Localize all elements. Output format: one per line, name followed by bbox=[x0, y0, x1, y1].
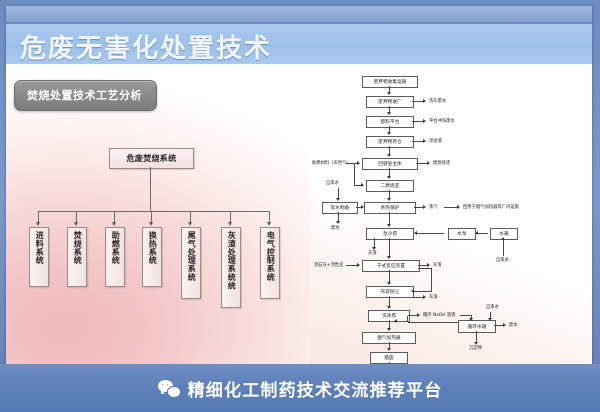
flow-arrow-6 bbox=[387, 198, 391, 201]
tree-leaf-label: 进料系统 bbox=[35, 231, 43, 265]
flow-label-wastewater-2: 废水 bbox=[509, 322, 518, 328]
flow-fuel-line bbox=[346, 163, 354, 164]
flow-scrubber-down bbox=[407, 316, 408, 322]
flow-node-unload-platform: 卸料平台 bbox=[366, 116, 414, 128]
flow-label-tap-water-1: 自来水 bbox=[326, 180, 339, 186]
flow-arrow-12 bbox=[387, 348, 391, 351]
flow-out-arrow-4 bbox=[427, 161, 430, 165]
flow-arrow-1 bbox=[387, 92, 391, 95]
flow-pump-arrow bbox=[414, 231, 417, 235]
flow-fuel-arrow-a bbox=[357, 161, 360, 165]
flow-node-arrival: 废弃物进厂 bbox=[366, 96, 414, 108]
flow-recycle-arrow bbox=[411, 289, 414, 293]
wechat-icon bbox=[158, 380, 180, 397]
flow-node-dry-reactor: 干式反应装置 bbox=[362, 260, 420, 272]
flow-tank-arrow bbox=[475, 231, 478, 235]
flow-node-baghouse: 布袋除尘 bbox=[366, 286, 414, 298]
flow-softwater-arrow-out bbox=[336, 221, 340, 224]
flow-label-ash-2: 灰渣 bbox=[433, 262, 442, 268]
flow-reagent-arrow bbox=[357, 263, 360, 267]
flow-node-waste-heat-boiler: 余热锅炉 bbox=[364, 202, 416, 214]
flow-node-storage: 废弃物存仓 bbox=[366, 136, 414, 148]
flow-steam-arrow-2 bbox=[457, 205, 460, 209]
tree-leaf-jinliao: 进料系统 bbox=[29, 227, 49, 287]
flow-label-ash-3: 灰渣 bbox=[429, 294, 438, 300]
footer-brand-bar: 精细化工制药技术交流推荐平台 bbox=[0, 364, 600, 412]
flow-label-platform-wash-water: 平台冲洗废水 bbox=[429, 118, 455, 124]
flow-tank-waste-arrow bbox=[503, 323, 506, 327]
flow-link-8 bbox=[389, 238, 390, 257]
tree-arrow-1 bbox=[36, 222, 40, 226]
flow-label-steam: 蒸汽 bbox=[429, 204, 438, 210]
flow-naoh-arrow bbox=[417, 313, 420, 317]
flow-arrow-3 bbox=[387, 132, 391, 135]
flow-node-secondary-chamber: 二燃烧室 bbox=[366, 180, 414, 192]
flow-scrubber-arrow bbox=[394, 319, 397, 323]
flow-naoh-return-arrow bbox=[469, 318, 473, 321]
footer-brand-text: 精细化工制药技术交流推荐平台 bbox=[188, 376, 443, 401]
flow-label-lime-carbon: 消石灰+活性炭 bbox=[314, 262, 343, 268]
tree-arrow-4 bbox=[149, 222, 153, 226]
tree-leaf-label: 换热系统 bbox=[148, 231, 156, 265]
tree-leaf-fenshao: 焚烧系统 bbox=[67, 227, 87, 287]
flow-steam-arrow bbox=[423, 205, 426, 209]
flow-arrow-9 bbox=[387, 282, 391, 285]
flow-arrow-2 bbox=[387, 112, 391, 115]
flow-arrow-8 bbox=[387, 256, 391, 259]
flow-label-tap-water-3: 自来水 bbox=[486, 304, 499, 310]
tree-leaf-label: 灰渣处理系统统 bbox=[227, 231, 235, 290]
flow-label-combustion-residue: 燃烧残渣 bbox=[433, 160, 450, 166]
flow-out-arrow-1 bbox=[423, 99, 426, 103]
flow-dry-ash-arrow bbox=[427, 263, 430, 267]
flow-fuel-drop bbox=[354, 163, 355, 185]
tree-leaf-dianqi: 电气控制系统 bbox=[260, 227, 280, 299]
flow-arrow-7 bbox=[387, 224, 391, 227]
tree-leaf-label: 助燃系统 bbox=[111, 231, 119, 265]
flow-tapwater-3-arrow bbox=[488, 318, 492, 321]
flow-arrow-11 bbox=[387, 328, 391, 331]
flow-recycle-bottom bbox=[412, 291, 432, 292]
flow-recycle-top bbox=[418, 268, 432, 269]
flow-label-wastewater-1: 废水 bbox=[331, 225, 340, 231]
flow-label-reuse: 回用于烟气加热器等厂内设施 bbox=[463, 204, 519, 210]
flow-label-car-wash-water: 洗车废水 bbox=[429, 98, 446, 104]
flow-softwater-arrow-boiler bbox=[361, 205, 364, 209]
flow-bag-ash-arrow bbox=[423, 295, 426, 299]
slide-page: 危废无害化处置技术 焚烧处置技术工艺分析 危废焚烧系统 bbox=[6, 6, 592, 364]
tree-arrow-5 bbox=[188, 222, 192, 226]
flow-tank-feed bbox=[503, 238, 504, 256]
slide-root: 危废无害化处置技术 焚烧处置技术工艺分析 危废焚烧系统 bbox=[0, 0, 600, 412]
tree-leaf-label: 焚烧系统 bbox=[73, 231, 81, 265]
tree-root-stem bbox=[150, 167, 151, 211]
tree-leaf-label: 电气控制系统 bbox=[266, 231, 274, 281]
tree-leaf-label: 尾气处理系统 bbox=[187, 231, 195, 281]
tree-leaf-weiqi: 尾气处理系统 bbox=[181, 227, 201, 299]
tree-arrow-2 bbox=[74, 222, 78, 226]
tree-leaf-huanre: 换热系统 bbox=[142, 227, 162, 287]
flow-out-arrow-2 bbox=[423, 119, 426, 123]
tree-bus-line bbox=[38, 211, 269, 212]
flow-node-circulating-tank: 循环水箱 bbox=[458, 320, 496, 333]
flow-label-leachate: 渗滤液 bbox=[429, 138, 442, 144]
flow-arrow-4 bbox=[387, 154, 391, 157]
tree-arrow-7 bbox=[267, 222, 271, 226]
page-title: 危废无害化处置技术 bbox=[20, 28, 272, 65]
system-tree-diagram: 危废焚烧系统 进料系统 焚烧系统 bbox=[6, 64, 310, 364]
flow-steam-line-2 bbox=[444, 207, 458, 208]
tree-arrow-6 bbox=[228, 222, 232, 226]
flow-node-pump: 水泵 bbox=[448, 228, 476, 240]
flow-label-naoh: 循环 NaOH 溶液 bbox=[423, 312, 455, 318]
flow-label-tap-water-2: 自来水 bbox=[496, 257, 509, 263]
flow-scrubber-to-tank bbox=[408, 322, 458, 323]
flow-recycle-side bbox=[431, 268, 432, 291]
flow-node-soft-water: 软水制备 bbox=[322, 202, 358, 214]
tree-leaf-zhuran: 助燃系统 bbox=[105, 227, 125, 287]
tree-arrow-3 bbox=[112, 222, 116, 226]
flow-arrow-10 bbox=[387, 306, 391, 309]
tree-root-node: 危废焚烧系统 bbox=[109, 148, 194, 169]
tree-leaf-huizha: 灰渣处理系统统 bbox=[221, 227, 241, 308]
flow-node-collection: 废弃物收集运输 bbox=[362, 76, 418, 88]
flow-label-natural-gas: 助燃材料（天然气） bbox=[312, 160, 351, 166]
flow-label-ash-1: 灰渣 bbox=[368, 250, 377, 256]
flow-arrow-5 bbox=[387, 176, 391, 179]
flow-label-sediment: 沉淀物 bbox=[469, 345, 482, 351]
flow-pump-line bbox=[416, 233, 444, 234]
flow-softwater-arrow-in bbox=[336, 198, 340, 201]
flow-fuel-arrow-b bbox=[361, 183, 364, 187]
top-band bbox=[6, 6, 592, 22]
flow-out-arrow-3 bbox=[423, 139, 426, 143]
incineration-process-flowchart: 废弃物收集运输 废弃物进厂 卸料平台 废弃物存仓 回转窑主体 二燃烧室 余热锅炉… bbox=[310, 64, 592, 364]
flow-node-rotary-kiln: 回转窑主体 bbox=[362, 158, 418, 170]
flow-tank-feed-arrow bbox=[501, 237, 505, 240]
